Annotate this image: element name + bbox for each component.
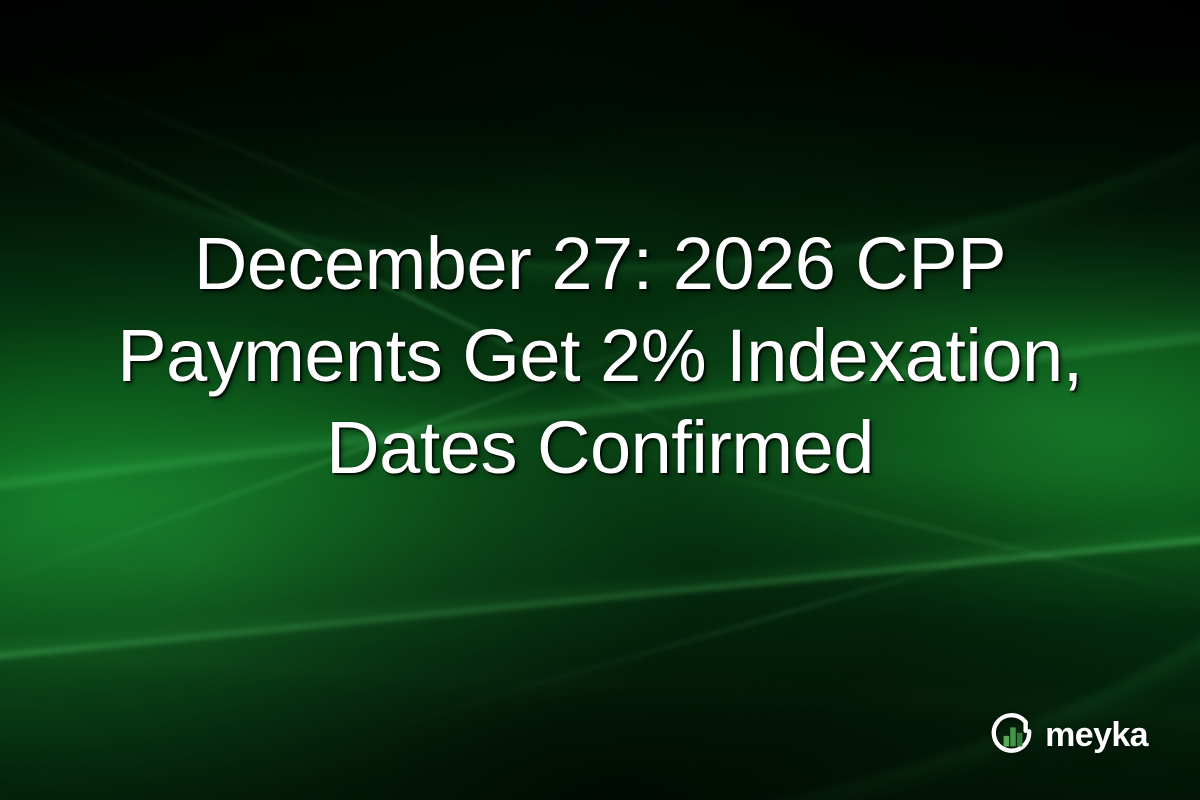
article-cover-card: December 27: 2026 CPP Payments Get 2% In… [0,0,1200,800]
brand-logo: meyka [990,712,1148,758]
page-title: December 27: 2026 CPP Payments Get 2% In… [0,218,1200,494]
light-ray-3 [375,518,1114,732]
meyka-bar-chart-ring-icon [990,712,1036,758]
brand-wordmark: meyka [1045,718,1148,752]
